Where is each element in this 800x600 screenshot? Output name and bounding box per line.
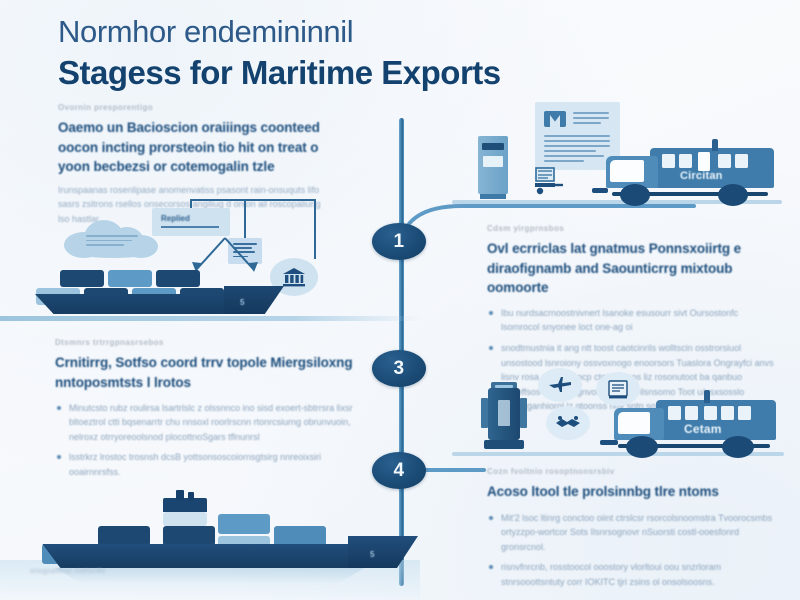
ship-funnel (176, 490, 184, 500)
stage-4-bullet-2: risnvfnrcnb, rosstoocol ooostory vlorlto… (487, 560, 779, 589)
stage-3-bullets: Minutcsto rubz roulirsa lsartrlslc z ols… (55, 401, 355, 480)
truck-top-exhaust (712, 139, 718, 151)
stage-4-eyebrow: Cozn fvoltnio rosoptnonsrsbiv (487, 467, 779, 477)
truck-top-windshield (610, 160, 644, 182)
stage-3-bullet-2: lsstrkrz lrostoc trosnsh dcsB yottsonsos… (55, 450, 355, 479)
truck-top-wheel-rear (718, 184, 748, 206)
tree-line-right-drop (314, 199, 316, 259)
stage-3-heading: Crnitirrg, Sotfso coord trrv topole Mier… (55, 353, 355, 391)
infographic-poster: Normhor endemininnil Stagess for Maritim… (0, 0, 800, 600)
ship-funnel-secondary (188, 492, 194, 500)
delivery-truck-top: Circitan (598, 148, 788, 204)
truck-bottom-brand: Cetam (684, 422, 722, 436)
truck-bottom-bumper (600, 440, 618, 445)
truck-top-brand: Circitan (680, 170, 723, 182)
cloud-text-lines (86, 235, 140, 249)
page-title: Stagess for Maritime Exports (58, 52, 758, 93)
truck-bottom-wheel-rear (722, 436, 754, 458)
stage-3-block: Dtsmnrs trtrrgpnasrsebos Crnitirrg, Sotf… (55, 338, 355, 486)
timeline-marker-1-number: 1 (393, 232, 404, 251)
container-ship-large: 5 (18, 488, 418, 578)
ship-large-bow (348, 536, 418, 568)
stage-4-bullet-1: Mit'2 lsoc ltinrg conctoo oiint ctrslcsr… (487, 511, 779, 555)
shipping-label-text: Replied (161, 214, 190, 223)
truck-bottom-wheel-front (626, 436, 658, 458)
footnote-text: snogsatitrsc rnetscthr (30, 566, 106, 575)
handshake-glyph (555, 415, 581, 431)
stage-4-heading: Acoso ltool tle prolsinnbg tlre ntoms (487, 482, 779, 501)
timeline-connector-stage4 (424, 468, 486, 472)
handshake-icon (546, 406, 590, 440)
stage-1-bullet-1: Ibu nurdsacrnoostnivnert lsanoke esusour… (487, 306, 779, 335)
airplane-icon (538, 368, 582, 402)
ship-large-hull-badge: 5 (370, 550, 374, 559)
ship-bridge (163, 498, 207, 512)
truck-bottom-windshield (618, 412, 650, 434)
tree-line-mid-drop (244, 199, 246, 239)
ship-small-bow (224, 286, 284, 314)
cargo-scanner-icon (480, 382, 528, 454)
timeline-marker-4[interactable]: 4 (372, 452, 426, 489)
container-ship-small: 5 (28, 248, 298, 318)
poster-header: Normhor endemininnil Stagess for Maritim… (58, 12, 758, 93)
stage-4-block: Cozn fvoltnio rosoptnonsrsbiv Acoso ltoo… (487, 467, 779, 595)
timeline-marker-4-number: 4 (393, 461, 404, 480)
intro-heading: Oaemo un Bacioscion oraiiings coonteed o… (58, 118, 330, 175)
stage-3-eyebrow: Dtsmnrs trtrrgpnasrsebos (55, 338, 355, 348)
delivery-truck-bottom: Cetam (608, 400, 788, 456)
truck-top-wheel-front (620, 184, 650, 206)
truck-top-bumper (592, 188, 608, 193)
timeline-marker-1[interactable]: 1 (372, 223, 426, 260)
timeline-marker-3[interactable]: 3 (372, 350, 426, 387)
truck-bottom-exhaust (704, 390, 710, 403)
customs-kiosk-icon (478, 136, 508, 200)
tree-line-horizontal (190, 199, 316, 201)
intro-eyebrow: Ovornin presporentigo (58, 103, 330, 113)
shipping-label-card: Replied (152, 208, 230, 236)
timeline-marker-3-number: 3 (393, 359, 404, 378)
ship-large-hull (28, 544, 388, 568)
document-glyph (607, 379, 629, 399)
document-seal-icon (544, 111, 566, 127)
stage-1-eyebrow: Cdsm yirgprnsbos (487, 224, 779, 234)
airplane-glyph (548, 376, 572, 394)
handcart-icon (532, 166, 566, 200)
stage-1-heading: Ovl ecrriclas lat gnatmus Ponnsxoiirtg e… (487, 239, 779, 296)
stage-3-bullet-1: Minutcsto rubz roulirsa lsartrlslc z ols… (55, 401, 355, 445)
ship-small-hull-badge: 5 (240, 298, 244, 307)
shipping-label-rule (161, 226, 219, 228)
title-line-primary: Normhor endemininnil (58, 12, 758, 52)
stage-4-bullets: Mit'2 lsoc ltinrg conctoo oiint ctrslcsr… (487, 511, 779, 590)
